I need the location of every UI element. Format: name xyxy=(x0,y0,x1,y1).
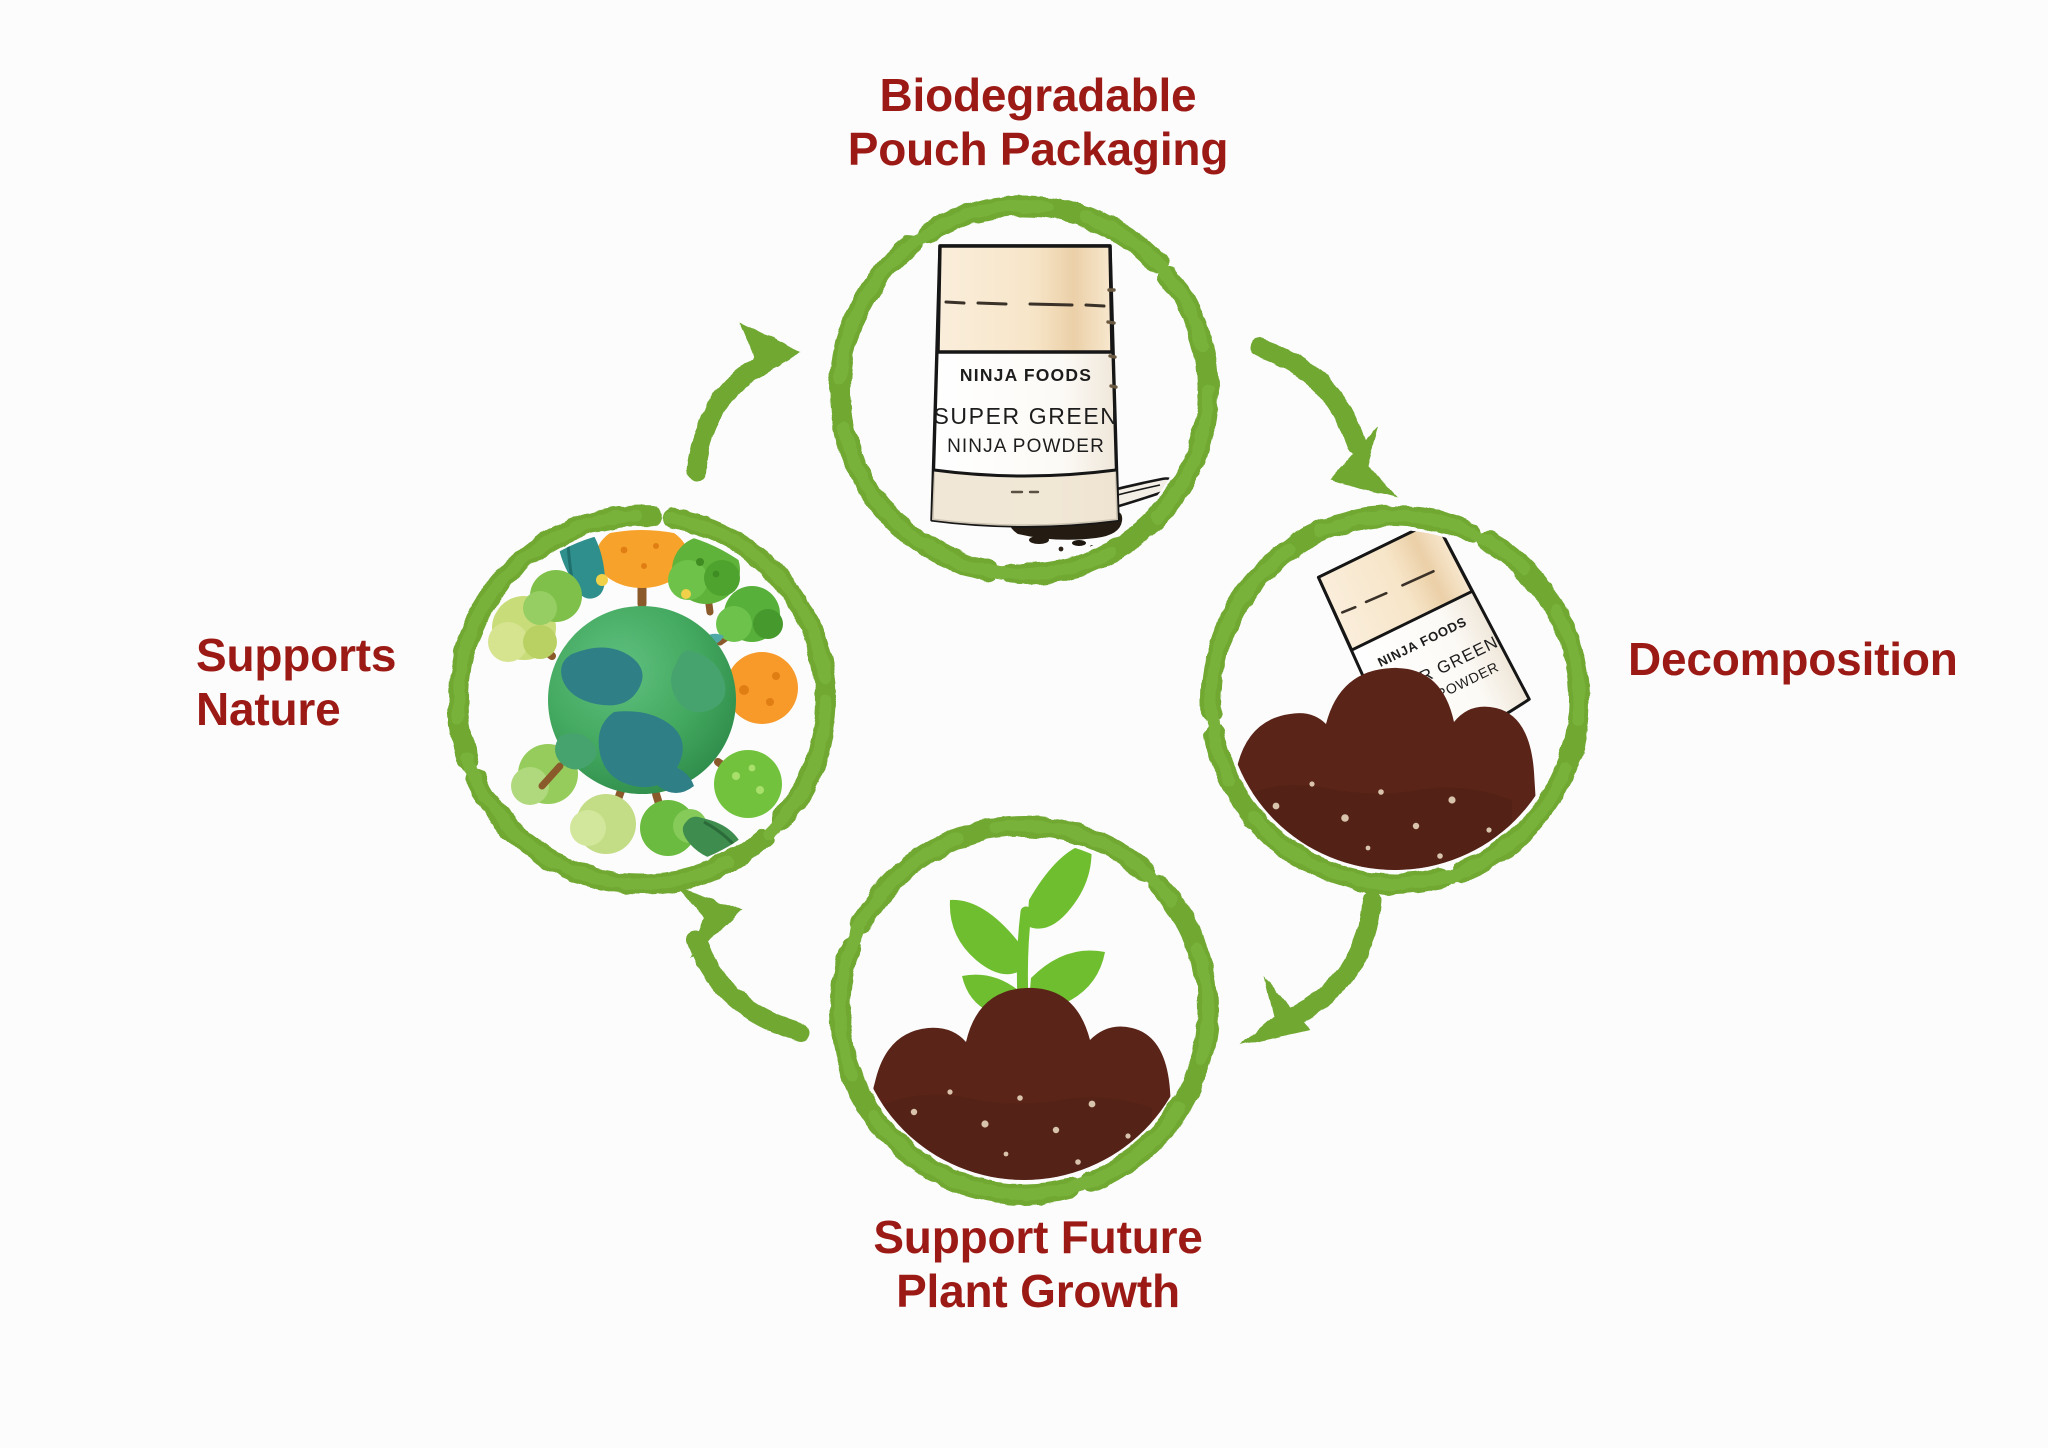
arrow-growth-to-nature xyxy=(676,886,800,1032)
stage-label-decomposition: Decomposition xyxy=(1628,632,2048,686)
lifecycle-diagram: NINJA FOODS SUPER GREEN NINJA POWDER NIN… xyxy=(0,0,2048,1448)
stage-label-packaging: Biodegradable Pouch Packaging xyxy=(838,68,1238,177)
earth-globe-icon xyxy=(548,606,736,794)
stage-circle-packaging[interactable]: NINJA FOODS SUPER GREEN NINJA POWDER xyxy=(840,206,1208,574)
pouch-name-line2: NINJA POWDER xyxy=(947,436,1105,457)
illustration-standing-pouch: NINJA FOODS SUPER GREEN NINJA POWDER xyxy=(932,246,1172,551)
pouch-brand-text: NINJA FOODS xyxy=(960,365,1092,385)
stage-label-plant-growth: Support Future Plant Growth xyxy=(838,1210,1238,1319)
pouch-name-line1: SUPER GREEN xyxy=(933,403,1118,429)
stage-circle-decomposition[interactable]: NINJA FOODS SUPER GREEN NINJA POWDER xyxy=(1211,516,1579,949)
stage-label-supports-nature: Supports Nature xyxy=(196,628,526,737)
arrow-packaging-to-decomposition xyxy=(1260,348,1398,498)
arrow-decomposition-to-growth xyxy=(1240,900,1372,1046)
soil-mound-decomposition xyxy=(1226,668,1538,949)
stage-circle-plant-growth[interactable] xyxy=(840,826,1208,1251)
arrow-nature-to-packaging xyxy=(696,322,800,472)
